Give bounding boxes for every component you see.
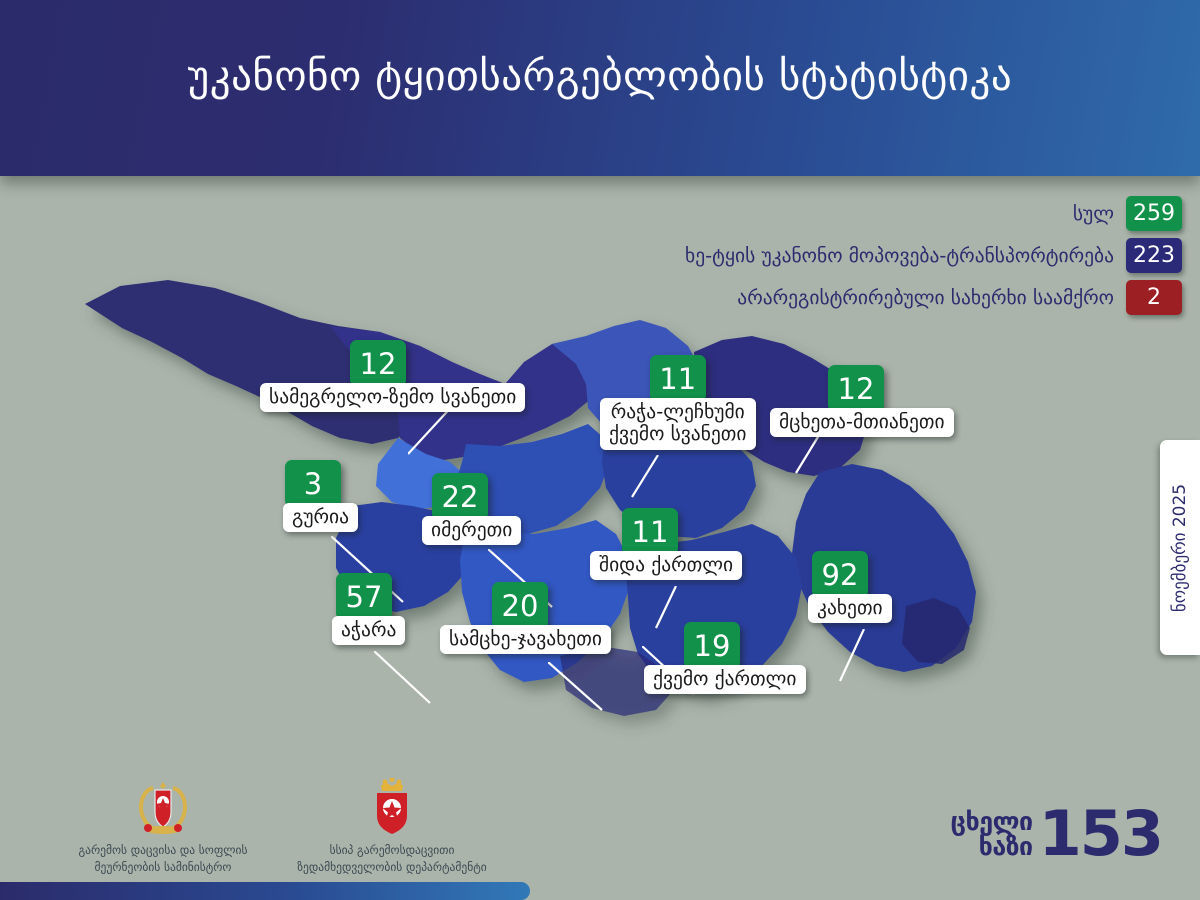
map-marker-kakheti[interactable]: 92 კახეთი	[812, 551, 892, 623]
marker-count-kvemo-kartli: 19	[684, 622, 740, 669]
marker-count-imereti: 22	[432, 473, 488, 520]
hotline-words: ცხელი ხაზი	[951, 810, 1033, 859]
map-marker-guria[interactable]: 3 გურია	[285, 460, 358, 532]
legend-badge-unregistered-sawmill: 2	[1126, 280, 1182, 315]
marker-count-samtskhe: 20	[492, 582, 548, 629]
marker-count-mtskheta: 12	[828, 365, 884, 412]
org-ministry-label: გარემოს დაცვისა და სოფლის მეურნეობის სამ…	[78, 842, 247, 875]
marker-count-guria: 3	[285, 460, 341, 507]
marker-name-guria: გურია	[283, 503, 358, 532]
marker-count-shida-kartli: 11	[622, 508, 678, 555]
map-marker-imereti[interactable]: 22 იმერეთი	[432, 473, 521, 545]
legend-row-unregistered-sawmill: არარეგისტრირებული სახერხი საამქრო 2	[737, 280, 1182, 315]
leader-line-samtskhe	[548, 662, 618, 732]
hotline: ცხელი ხაზი 153	[951, 807, 1163, 862]
date-tab: ნოემბერი 2025	[1160, 440, 1200, 655]
legend-row-illegal-logging: ხე-ტყის უკანონო მოპოვება-ტრანსპორტირება …	[685, 238, 1182, 273]
legend-label-unregistered-sawmill: არარეგისტრირებული სახერხი საამქრო	[737, 286, 1114, 309]
infographic-root: უკანონო ტყითსარგებლობის სტატისტიკა სულ 2…	[0, 0, 1200, 900]
marker-count-racha: 11	[650, 355, 706, 402]
legend: სულ 259 ხე-ტყის უკანონო მოპოვება-ტრანსპო…	[685, 196, 1182, 315]
marker-name-shida-kartli: შიდა ქართლი	[590, 551, 742, 580]
marker-count-samegrelo: 12	[350, 340, 406, 387]
page-title: უკანონო ტყითსარგებლობის სტატისტიკა	[0, 52, 1200, 100]
leader-line-racha	[622, 455, 672, 505]
leader-line-adjara	[374, 651, 444, 721]
legend-badge-total: 259	[1126, 196, 1182, 231]
marker-name-samtskhe: სამცხე-ჯავახეთი	[440, 625, 611, 654]
hotline-line2: ხაზი	[979, 835, 1033, 860]
legend-row-total: სულ 259	[1073, 196, 1182, 231]
date-tab-label: ნოემბერი 2025	[1170, 483, 1190, 611]
hotline-number: 153	[1039, 807, 1162, 862]
map-marker-samegrelo[interactable]: 12 სამეგრელო-ზემო სვანეთი	[350, 340, 525, 412]
marker-count-kakheti: 92	[812, 551, 868, 598]
legend-label-illegal-logging: ხე-ტყის უკანონო მოპოვება-ტრანსპორტირება	[685, 244, 1114, 267]
marker-name-samegrelo: სამეგრელო-ზემო სვანეთი	[260, 383, 525, 412]
legend-label-total: სულ	[1073, 202, 1114, 225]
marker-name-kakheti: კახეთი	[808, 594, 892, 623]
map-marker-kvemo-kartli[interactable]: 19 ქვემო ქართლი	[684, 622, 806, 694]
map-marker-mtskheta[interactable]: 12 მცხეთა-მთიანეთი	[828, 365, 954, 437]
georgia-shield-icon	[367, 778, 417, 836]
legend-badge-illegal-logging: 223	[1126, 238, 1182, 273]
marker-count-adjara: 57	[336, 573, 392, 620]
org-department: სსიპ გარემოსდაცვითი ზედამხედველობის დეპა…	[272, 778, 512, 875]
leader-line-kakheti	[838, 629, 898, 699]
bottom-accent-bar	[0, 882, 530, 900]
marker-name-adjara: აჭარა	[332, 616, 405, 645]
org-ministry: გარემოს დაცვისა და სოფლის მეურნეობის სამ…	[48, 778, 278, 875]
georgia-coat-of-arms-icon	[135, 778, 191, 836]
marker-name-imereti: იმერეთი	[422, 516, 521, 545]
marker-name-mtskheta: მცხეთა-მთიანეთი	[770, 408, 954, 437]
footer: გარემოს დაცვისა და სოფლის მეურნეობის სამ…	[0, 770, 1200, 900]
marker-name-kvemo-kartli: ქვემო ქართლი	[644, 665, 806, 694]
header-banner: უკანონო ტყითსარგებლობის სტატისტიკა	[0, 0, 1200, 176]
map-marker-shida-kartli[interactable]: 11 შიდა ქართლი	[622, 508, 742, 580]
map-marker-racha[interactable]: 11 რაჭა-ლეჩხუმი ქვემო სვანეთი	[600, 355, 756, 450]
org-department-label: სსიპ გარემოსდაცვითი ზედამხედველობის დეპა…	[297, 842, 486, 875]
marker-name-racha: რაჭა-ლეჩხუმი ქვემო სვანეთი	[600, 398, 756, 450]
